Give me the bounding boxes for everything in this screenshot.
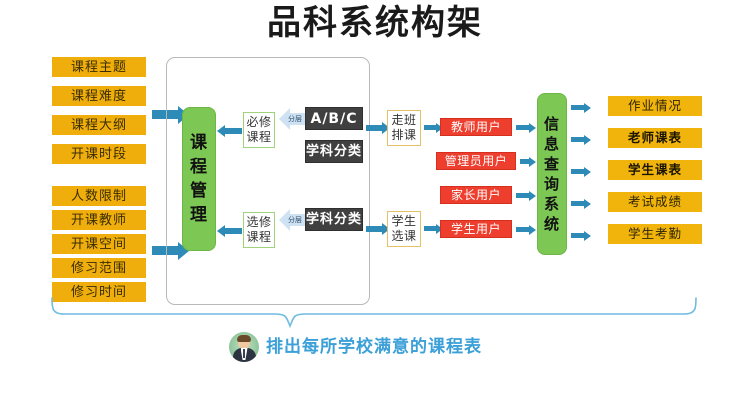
walking-class-line1: 走班 [391, 113, 416, 128]
subject-category-box-bottom[interactable]: 学科分类 [305, 208, 363, 231]
arrow-parent-user-to-info-system [516, 193, 529, 198]
input-chip-course-outline[interactable]: 课程大纲 [52, 115, 146, 135]
arrow-core-to-student-select [366, 226, 382, 232]
course-management-char-4: 理 [190, 203, 208, 227]
student-course-selection-box[interactable]: 学生 选课 [387, 211, 421, 247]
info-system-char-3: 查 [544, 154, 560, 174]
input-chip-teacher[interactable]: 开课教师 [52, 210, 146, 230]
arrow-teacher-user-to-info-system [516, 125, 529, 130]
input-chip-course-difficulty[interactable]: 课程难度 [52, 86, 146, 106]
arrow-info-system-to-teacher-timetable [571, 137, 584, 142]
page-title: 品科系统构架 [0, 2, 750, 44]
required-course-box[interactable]: 必修 课程 [243, 112, 275, 148]
arrow-student-select-to-student-user [424, 226, 436, 231]
input-chip-study-scope[interactable]: 修习范围 [52, 258, 146, 278]
layering-label-bottom: 分层 [288, 216, 302, 224]
summary-brace [40, 296, 720, 338]
info-system-char-4: 询 [544, 174, 560, 194]
subject-category-box-top[interactable]: 学科分类 [305, 140, 363, 163]
student-select-line1: 学生 [391, 214, 416, 229]
arrow-info-system-to-exam-score [571, 201, 584, 206]
output-chip-teacher-timetable[interactable]: 老师课表 [608, 128, 702, 148]
info-system-char-2: 息 [544, 134, 560, 154]
course-management-module[interactable]: 课 程 管 理 [182, 107, 216, 251]
summary-caption: 排出每所学校满意的课程表 [266, 336, 482, 358]
output-chip-homework-status[interactable]: 作业情况 [608, 96, 702, 116]
arrow-info-system-to-homework [571, 105, 584, 110]
arrow-elective-course-to-management [225, 228, 242, 234]
input-chip-capacity-limit[interactable]: 人数限制 [52, 186, 146, 206]
arrow-info-system-to-student-timetable [571, 169, 584, 174]
info-system-char-5: 系 [544, 194, 560, 214]
course-management-char-3: 管 [190, 179, 208, 203]
arrow-walking-class-to-teacher-user [424, 125, 436, 130]
arrow-student-user-to-info-system [516, 227, 529, 232]
avatar-tie [243, 349, 245, 358]
elective-course-line2: 课程 [246, 230, 271, 245]
user-box-parent[interactable]: 家长用户 [440, 186, 512, 204]
user-box-student[interactable]: 学生用户 [440, 220, 512, 238]
arrow-required-course-to-management [225, 128, 242, 134]
info-system-char-1: 信 [544, 114, 560, 134]
student-select-line2: 选课 [391, 229, 416, 244]
elective-course-box[interactable]: 选修 课程 [243, 212, 275, 248]
input-chip-classroom[interactable]: 开课空间 [52, 234, 146, 254]
diagram-canvas: 品科系统构架 课程主题 课程难度 课程大纲 开课时段 人数限制 开课教师 开课空… [0, 0, 750, 413]
category-abc-box[interactable]: A/B/C [305, 107, 363, 130]
required-course-line2: 课程 [246, 130, 271, 145]
walking-class-scheduling-box[interactable]: 走班 排课 [387, 110, 421, 146]
info-query-system-module[interactable]: 信 息 查 询 系 统 [537, 93, 567, 255]
arrow-info-system-to-attendance [571, 233, 584, 238]
info-system-char-6: 统 [544, 214, 560, 234]
course-management-char-1: 课 [190, 131, 208, 155]
elective-course-line1: 选修 [246, 215, 271, 230]
person-avatar-icon [229, 332, 259, 362]
walking-class-line2: 排课 [391, 128, 416, 143]
input-chip-course-topic[interactable]: 课程主题 [52, 57, 146, 77]
output-chip-exam-score[interactable]: 考试成绩 [608, 192, 702, 212]
user-box-admin[interactable]: 管理员用户 [436, 152, 516, 170]
arrow-admin-user-to-info-system [520, 159, 529, 164]
layering-label-top: 分层 [288, 115, 302, 123]
course-management-char-2: 程 [190, 155, 208, 179]
user-box-teacher[interactable]: 教师用户 [440, 118, 512, 136]
arrow-core-to-walking-class [366, 125, 382, 131]
output-chip-student-attendance[interactable]: 学生考勤 [608, 224, 702, 244]
output-chip-student-timetable[interactable]: 学生课表 [608, 160, 702, 180]
required-course-line1: 必修 [246, 115, 271, 130]
input-chip-course-timeslot[interactable]: 开课时段 [52, 144, 146, 164]
avatar-hair [237, 335, 251, 342]
